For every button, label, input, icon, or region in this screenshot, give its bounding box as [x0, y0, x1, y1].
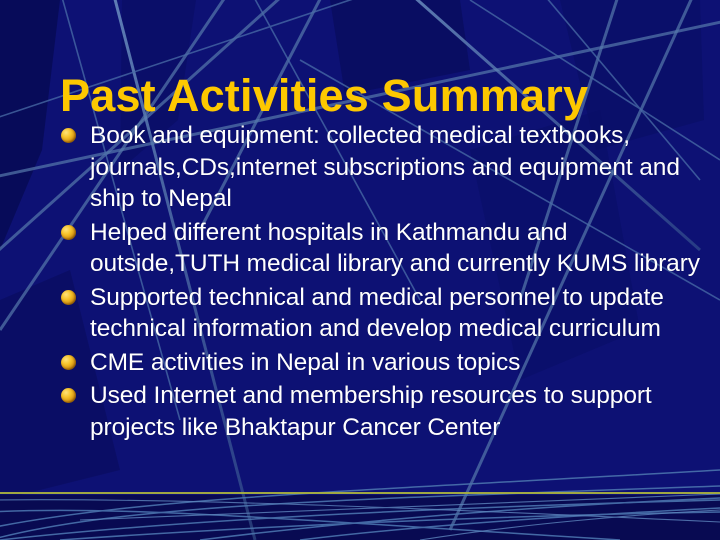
gold-sphere-bullet-icon	[61, 290, 76, 305]
presentation-slide: Past Activities Summary Book and equipme…	[0, 0, 720, 540]
gold-sphere-bullet-icon	[61, 388, 76, 403]
list-item-text: Helped different hospitals in Kathmandu …	[90, 217, 706, 280]
gold-sphere-bullet-icon	[61, 355, 76, 370]
list-item: CME activities in Nepal in various topic…	[58, 347, 706, 379]
list-item-text: Supported technical and medical personne…	[90, 282, 706, 345]
accent-divider-line	[0, 492, 720, 494]
slide-title: Past Activities Summary	[60, 72, 680, 119]
list-item: Supported technical and medical personne…	[58, 282, 706, 345]
list-item: Book and equipment: collected medical te…	[58, 120, 706, 215]
list-item-text: CME activities in Nepal in various topic…	[90, 347, 706, 379]
list-item: Used Internet and membership resources t…	[58, 380, 706, 443]
gold-sphere-bullet-icon	[61, 128, 76, 143]
list-item: Helped different hospitals in Kathmandu …	[58, 217, 706, 280]
slide-bullet-list: Book and equipment: collected medical te…	[58, 120, 706, 445]
list-item-text: Book and equipment: collected medical te…	[90, 120, 706, 215]
list-item-text: Used Internet and membership resources t…	[90, 380, 706, 443]
gold-sphere-bullet-icon	[61, 225, 76, 240]
